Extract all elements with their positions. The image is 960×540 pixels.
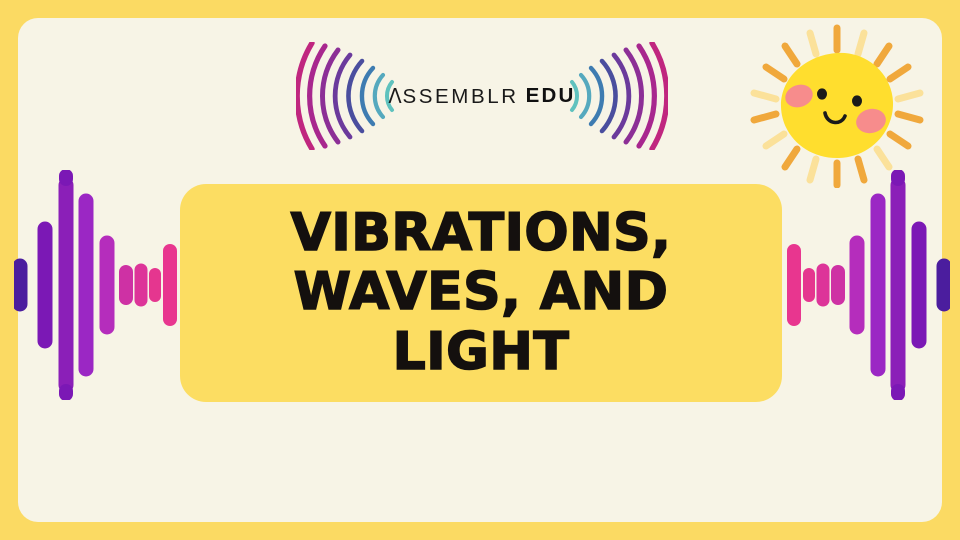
smiling-sun-illustration [746, 22, 928, 188]
assemblr-edu-logo: ΛSSEMBLR EDU [296, 42, 668, 150]
logo-brand-primary: ΛSSEMBLR [388, 84, 518, 109]
audio-waveform-left [14, 170, 186, 400]
logo-sound-arcs-left-icon [296, 42, 396, 150]
logo-brand-rest: SSEMBLR [402, 85, 518, 108]
sun-eye-right [852, 95, 862, 106]
title-card: VIBRATIONS, WAVES, AND LIGHT [180, 184, 782, 402]
slide-canvas: ΛSSEMBLR EDU [0, 0, 960, 540]
audio-waveform-right [778, 170, 950, 400]
logo-lambda-glyph: Λ [389, 84, 402, 108]
sun-eye-left [817, 88, 827, 99]
logo-wordmark: ΛSSEMBLR EDU [392, 42, 572, 150]
slide-title: VIBRATIONS, WAVES, AND LIGHT [180, 204, 782, 382]
logo-sound-arcs-right-icon [568, 42, 668, 150]
